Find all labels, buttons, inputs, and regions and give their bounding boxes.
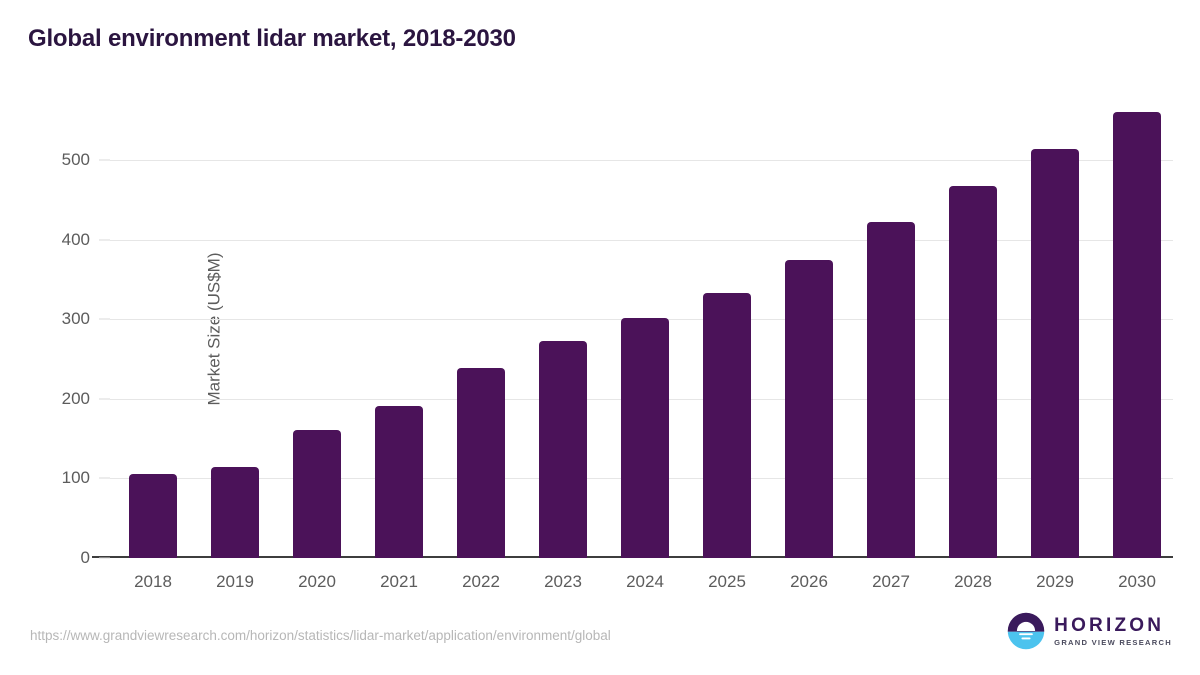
y-tick-label: 400 xyxy=(62,230,90,250)
y-tick-label: 300 xyxy=(62,309,90,329)
gridline xyxy=(110,240,1173,241)
y-tick-label: 100 xyxy=(62,468,90,488)
bar[interactable] xyxy=(293,430,341,558)
y-tick-mark xyxy=(99,478,110,479)
bar[interactable] xyxy=(1113,112,1161,558)
horizon-sun-circle-icon xyxy=(1007,612,1045,650)
x-tick-label: 2029 xyxy=(1036,572,1074,592)
x-tick-label: 2030 xyxy=(1118,572,1156,592)
bar[interactable] xyxy=(703,293,751,558)
x-tick-label: 2020 xyxy=(298,572,336,592)
x-tick-label: 2027 xyxy=(872,572,910,592)
bar[interactable] xyxy=(621,318,669,558)
y-tick-label: 500 xyxy=(62,150,90,170)
y-tick-label: 0 xyxy=(81,548,90,568)
logo-text: HORIZON GRAND VIEW RESEARCH xyxy=(1054,616,1172,647)
x-tick-label: 2021 xyxy=(380,572,418,592)
x-tick-label: 2028 xyxy=(954,572,992,592)
bar[interactable] xyxy=(867,222,915,558)
y-tick-mark xyxy=(99,160,110,161)
chart-canvas: Global environment lidar market, 2018-20… xyxy=(0,0,1200,675)
logo-name: HORIZON xyxy=(1054,616,1172,635)
page-title: Global environment lidar market, 2018-20… xyxy=(28,25,516,53)
x-tick-label: 2024 xyxy=(626,572,664,592)
bar[interactable] xyxy=(1031,149,1079,558)
plot-inner: 0100200300400500201820192020202120222023… xyxy=(110,100,1173,558)
x-tick-label: 2022 xyxy=(462,572,500,592)
x-tick-label: 2023 xyxy=(544,572,582,592)
brand-logo[interactable]: HORIZON GRAND VIEW RESEARCH xyxy=(1007,612,1172,650)
bar[interactable] xyxy=(785,260,833,559)
bar[interactable] xyxy=(375,406,423,558)
gridline xyxy=(110,160,1173,161)
x-tick-label: 2026 xyxy=(790,572,828,592)
bar[interactable] xyxy=(539,341,587,558)
plot-area: Market Size (US$M) 010020030040050020182… xyxy=(110,100,1173,558)
logo-tagline: GRAND VIEW RESEARCH xyxy=(1054,639,1172,647)
x-tick-label: 2018 xyxy=(134,572,172,592)
bar[interactable] xyxy=(949,186,997,558)
x-tick-label: 2025 xyxy=(708,572,746,592)
y-tick-mark xyxy=(99,398,110,399)
bar[interactable] xyxy=(129,474,177,558)
source-url[interactable]: https://www.grandviewresearch.com/horizo… xyxy=(30,628,611,643)
bar[interactable] xyxy=(211,467,259,558)
y-tick-mark xyxy=(99,319,110,320)
y-tick-label: 200 xyxy=(62,389,90,409)
y-tick-mark xyxy=(99,239,110,240)
x-tick-label: 2019 xyxy=(216,572,254,592)
y-tick-mark xyxy=(99,558,110,559)
bar[interactable] xyxy=(457,368,505,558)
